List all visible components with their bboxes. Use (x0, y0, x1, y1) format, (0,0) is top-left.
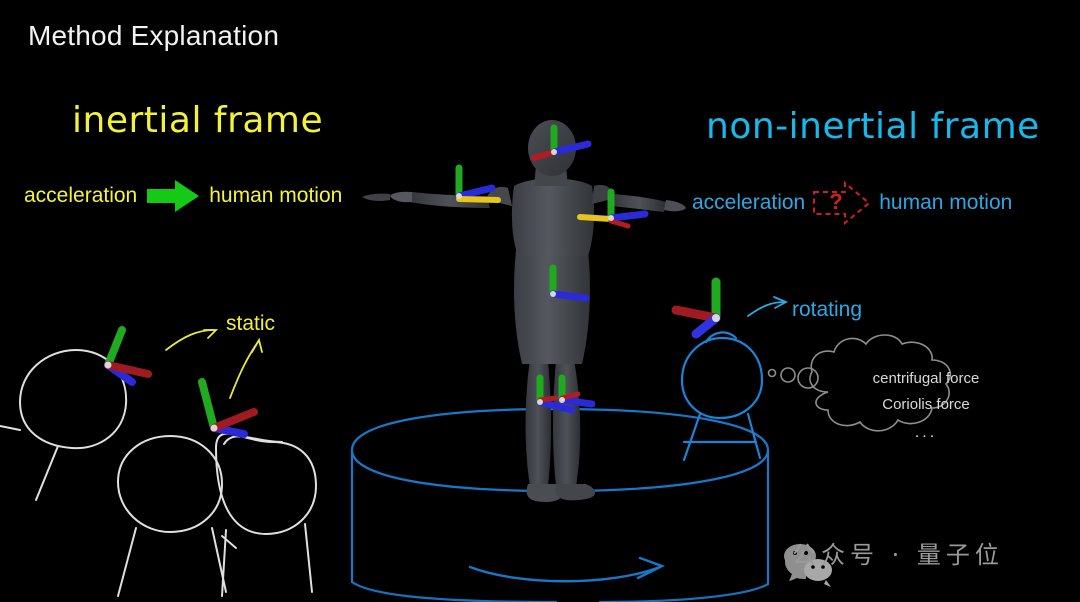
axis-gizmo-rotating-observer (676, 282, 720, 334)
inertial-cause-label: acceleration (24, 184, 137, 208)
watermark: 公众号 · 量子位 (792, 535, 1004, 570)
page-title: Method Explanation (28, 20, 279, 52)
sketch-observer-rotating (682, 332, 762, 460)
static-pointer-arrows (166, 330, 262, 398)
human-body-mesh (362, 120, 686, 502)
rotating-pointer-arrow (748, 297, 786, 316)
sketch-observer-left-1 (0, 350, 126, 500)
scene-illustration (0, 0, 1080, 602)
red-dashed-arrow-right-icon: ? (811, 180, 873, 226)
green-solid-arrow-right-icon (145, 178, 201, 214)
non-inertial-cause-label: acceleration (692, 191, 805, 215)
inertial-effect-label: human motion (209, 184, 342, 208)
axis-gizmo-sketch-1 (105, 330, 149, 382)
rotating-annotation-label: rotating (792, 298, 862, 322)
inertial-relation-row: acceleration human motion (24, 178, 342, 214)
thought-bubble-text: centrifugal force Coriolis force ... (836, 366, 1016, 446)
thought-line-1: centrifugal force (836, 366, 1016, 392)
inertial-frame-heading: inertial frame (72, 100, 323, 141)
slide-canvas: Method Explanation inertial frame non-in… (0, 0, 1080, 602)
rotation-direction-arrow (470, 558, 662, 581)
thought-line-2: Coriolis force (836, 392, 1016, 418)
question-mark-label: ? (829, 189, 842, 215)
watermark-text: 公众号 · 量子位 (792, 535, 1004, 570)
sketch-observer-left-2 (118, 436, 226, 596)
static-annotation-label: static (226, 312, 275, 336)
non-inertial-relation-row: acceleration ? human motion (692, 180, 1012, 226)
non-inertial-effect-label: human motion (879, 191, 1012, 215)
sketch-observer-left-3 (216, 434, 316, 596)
non-inertial-frame-heading: non-inertial frame (706, 106, 1040, 147)
thought-ellipsis: ... (836, 420, 1016, 446)
axis-gizmo-sketch-2 (202, 382, 254, 434)
